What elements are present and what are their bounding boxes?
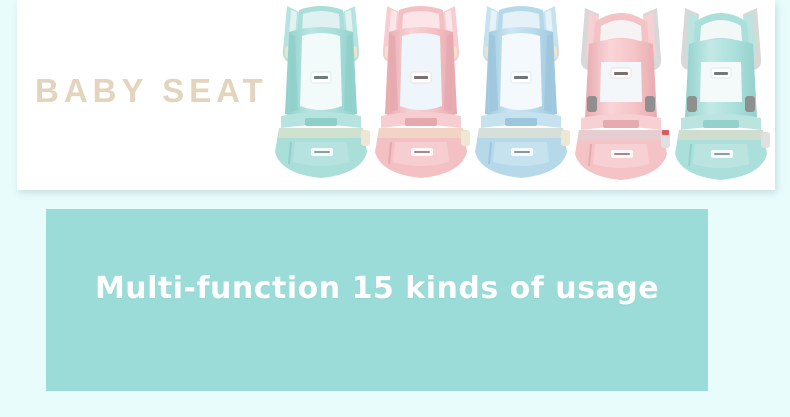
product-image-row bbox=[255, 0, 775, 190]
product-image-baby-carrier-blue bbox=[469, 2, 573, 182]
hero-card: BABY SEAT bbox=[17, 0, 775, 190]
product-image-baby-carrier-mint-b bbox=[669, 2, 773, 182]
promo-banner-text: Multi-function 15 kinds of usage bbox=[46, 271, 708, 306]
page-title: BABY SEAT bbox=[35, 72, 268, 110]
product-image-baby-carrier-pink-b bbox=[569, 2, 673, 182]
product-image-baby-carrier-pink bbox=[369, 2, 473, 182]
promo-banner: Multi-function 15 kinds of usage bbox=[46, 209, 708, 391]
product-image-baby-carrier-mint bbox=[269, 2, 373, 182]
